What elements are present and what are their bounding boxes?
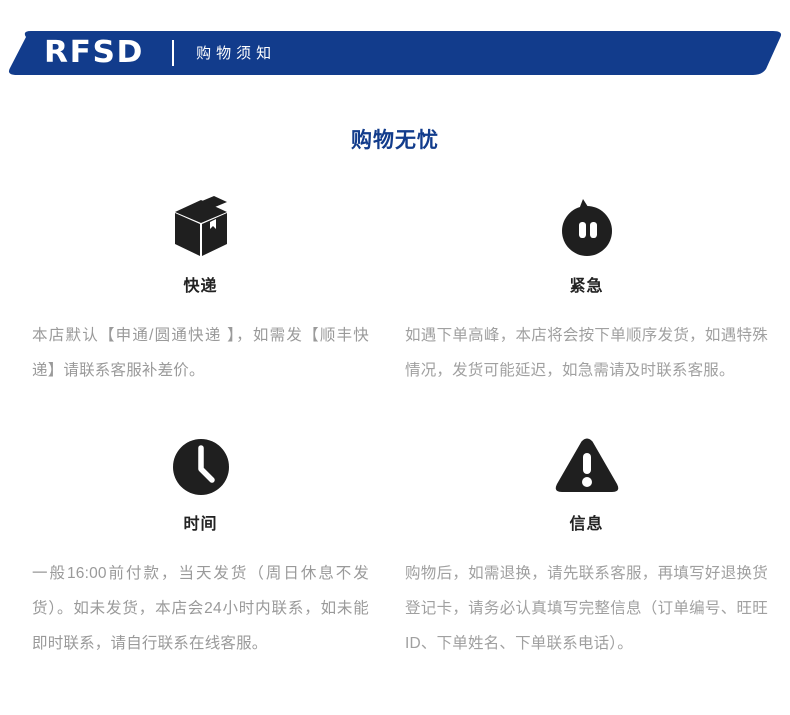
info-block-text: 购物后，如需退换，请先联系客服，再填写好退换货登记卡，请务必认真填写完整信息（订… <box>405 556 768 661</box>
brand-logo-rfsd: RFSD <box>44 38 144 68</box>
page-title: 购物无忧 <box>0 124 790 154</box>
shopping-info-grid: 快递 本店默认【申通/圆通快递 】，如需发【顺丰快递】请联系客服补差价。 紧急 … <box>0 196 790 661</box>
info-block-information: 信息 购物后，如需退换，请先联系客服，再填写好退换货登记卡，请务必认真填写完整信… <box>395 388 790 661</box>
info-block-text: 一般16:00前付款，当天发货（周日休息不发货）。如未发货，本店会24小时内联系… <box>32 556 369 661</box>
info-block-urgent: 紧急 如遇下单高峰，本店将会按下单顺序发货，如遇特殊情况，发货可能延迟，如急需请… <box>395 196 790 388</box>
info-block-label: 快递 <box>32 272 369 296</box>
clock-icon <box>32 434 369 500</box>
info-block-label: 紧急 <box>405 272 768 296</box>
package-box-icon <box>32 196 369 262</box>
info-block-time: 时间 一般16:00前付款，当天发货（周日休息不发货）。如未发货，本店会24小时… <box>0 388 395 661</box>
warning-triangle-icon-svg <box>553 436 621 498</box>
clock-icon-svg <box>170 436 232 498</box>
banner-subtitle: 购物须知 <box>196 46 276 61</box>
page-header-banner: RFSD 购物须知 <box>0 31 790 75</box>
info-block-label: 信息 <box>405 510 768 534</box>
speech-bubble-pause-icon <box>405 196 768 262</box>
warning-triangle-icon <box>405 434 768 500</box>
package-box-icon-svg <box>169 196 233 262</box>
speech-bubble-pause-icon-svg <box>556 196 618 262</box>
info-block-text: 本店默认【申通/圆通快递 】，如需发【顺丰快递】请联系客服补差价。 <box>32 318 369 388</box>
info-block-label: 时间 <box>32 510 369 534</box>
info-block-text: 如遇下单高峰，本店将会按下单顺序发货，如遇特殊情况，发货可能延迟，如急需请及时联… <box>405 318 768 388</box>
info-block-express: 快递 本店默认【申通/圆通快递 】，如需发【顺丰快递】请联系客服补差价。 <box>0 196 395 388</box>
banner-divider <box>172 40 174 66</box>
banner-content: RFSD 购物须知 <box>0 31 790 75</box>
